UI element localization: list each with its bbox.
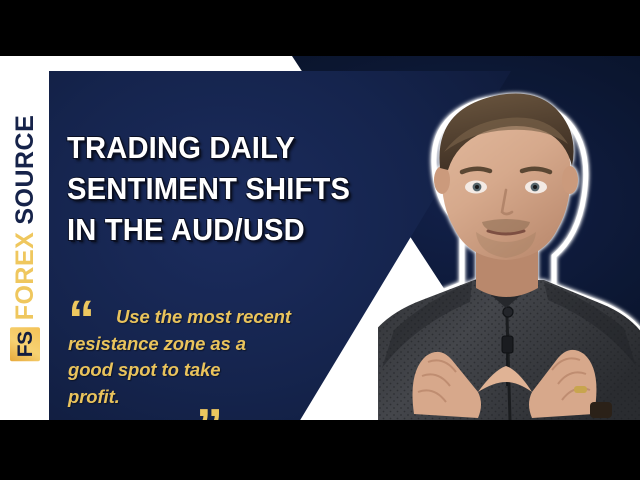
brand-word-forex: FOREX <box>10 232 39 321</box>
quote-line-2: resistance zone as a <box>68 331 366 358</box>
brand-lockup: FS FOREX SOURCE <box>10 115 40 362</box>
headline-line-2: SENTIMENT SHIFTS <box>67 169 415 210</box>
headline-line-1: TRADING DAILY <box>67 128 415 169</box>
letterbox-top <box>0 0 640 56</box>
headline-line-3: IN THE AUD/USD <box>67 210 415 251</box>
letterbox-bottom <box>0 420 640 480</box>
headline: TRADING DAILY SENTIMENT SHIFTS IN THE AU… <box>67 128 415 251</box>
quote-line-3: good spot to take <box>68 357 366 384</box>
video-frame: FS FOREX SOURCE TRADING DAILY SENTIMENT … <box>0 56 640 420</box>
presenter-cutout <box>378 56 640 420</box>
brand-word-source: SOURCE <box>10 115 39 225</box>
fs-logo-icon: FS <box>10 327 40 361</box>
brand-strip: FS FOREX SOURCE <box>0 56 49 420</box>
quote-close-icon: ” <box>196 412 223 420</box>
quote-line-1: Use the most recent <box>116 304 366 331</box>
video-thumbnail: FS FOREX SOURCE TRADING DAILY SENTIMENT … <box>0 0 640 480</box>
quote-text: Use the most recent resistance zone as a… <box>116 304 366 411</box>
